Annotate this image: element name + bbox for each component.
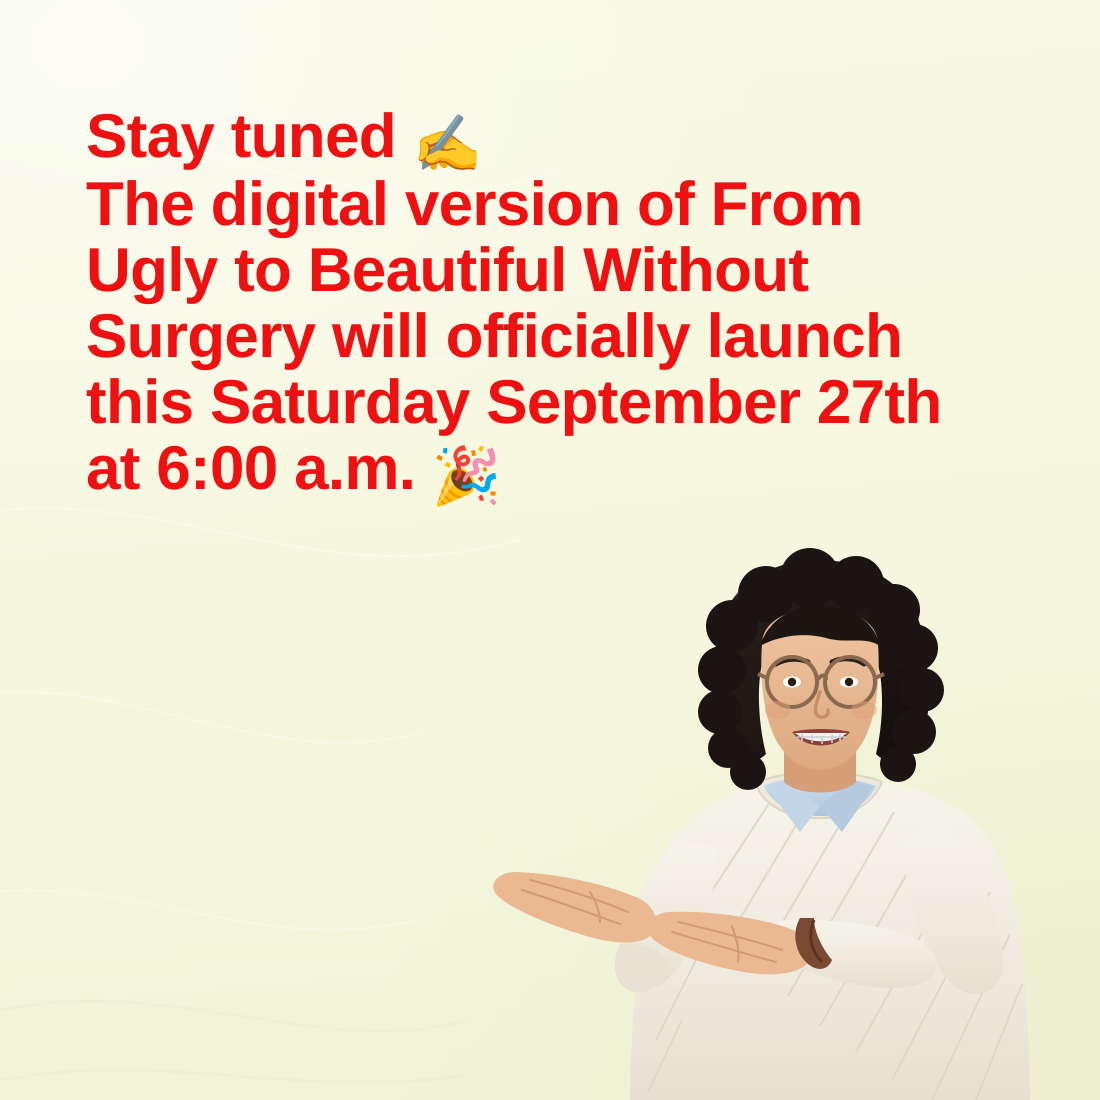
presenter-photo	[470, 540, 1100, 1100]
emoji: 🎉	[432, 444, 501, 507]
page-title: Stay tuned ✍️The digital version of From…	[86, 104, 1026, 504]
emoji: ✍️	[412, 112, 481, 175]
announcement-poster: Stay tuned ✍️The digital version of From…	[0, 0, 1100, 1100]
